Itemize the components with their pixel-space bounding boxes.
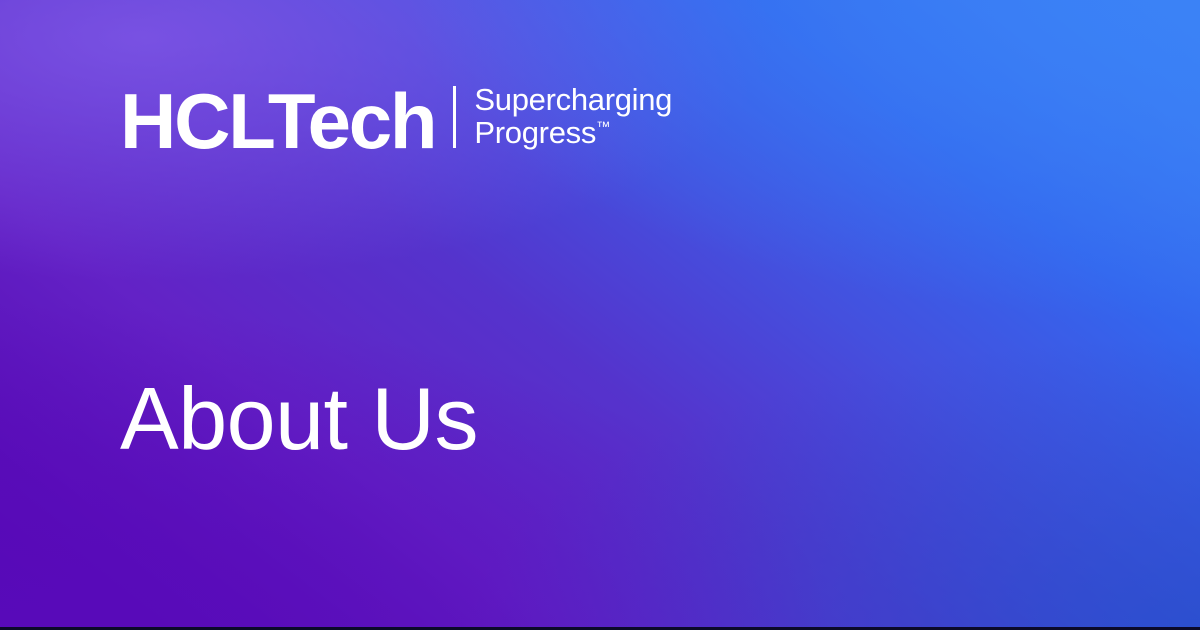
banner-content: HCLTech Supercharging Progress™ About Us [0,0,1200,630]
hcltech-logo-lockup[interactable]: HCLTech Supercharging Progress™ [120,80,672,160]
hero-banner: HCLTech Supercharging Progress™ About Us [0,0,1200,630]
hcltech-wordmark: HCLTech [120,82,435,160]
logo-divider [453,86,456,148]
tagline-line-2-text: Progress [474,115,596,150]
tagline-line-1: Supercharging [474,83,672,116]
brand-tagline: Supercharging Progress™ [474,83,672,150]
tagline-line-2: Progress™ [474,116,672,149]
trademark-icon: ™ [596,120,610,136]
page-title: About Us [120,375,478,463]
